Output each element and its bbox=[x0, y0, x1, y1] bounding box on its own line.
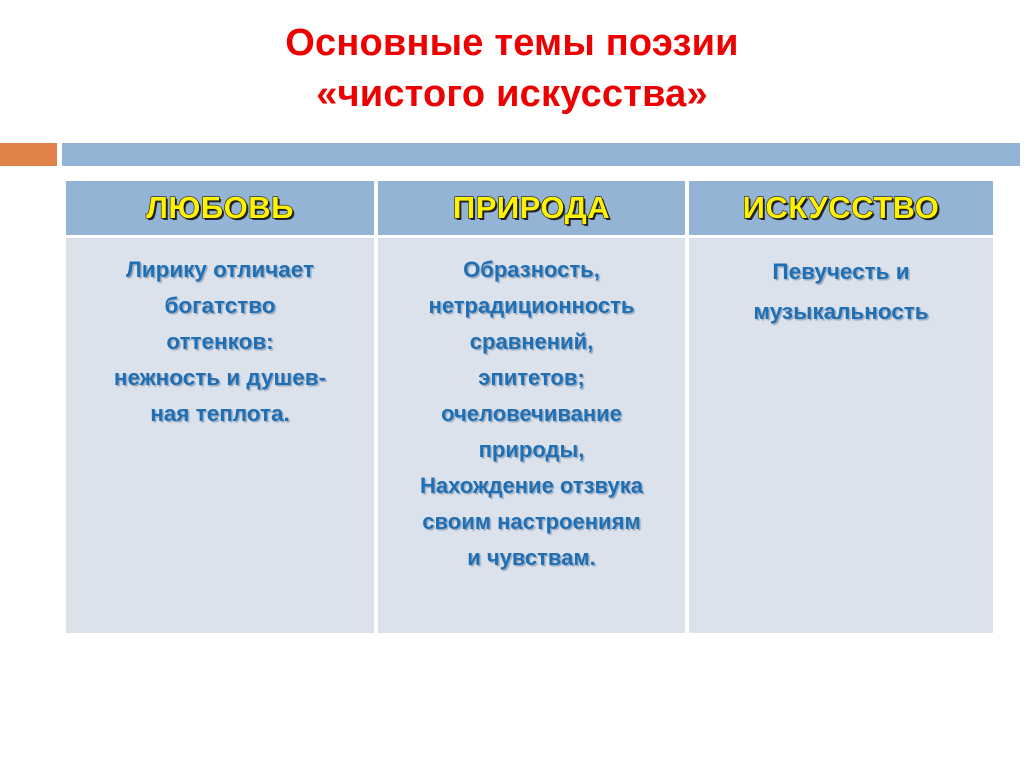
table-header-cell-priroda: ПРИРОДА bbox=[378, 181, 685, 235]
cell-line: богатство bbox=[76, 288, 364, 324]
cell-line: Образность, bbox=[388, 252, 675, 288]
column-header-label-2: ПРИРОДА bbox=[453, 191, 610, 225]
cell-line: своим настроениям bbox=[388, 504, 675, 540]
slide-canvas: Основные темы поэзии «чистого искусства»… bbox=[0, 0, 1024, 767]
column-header-label-1: ЛЮБОВЬ bbox=[146, 191, 294, 225]
cell-line: ная теплота. bbox=[76, 396, 364, 432]
cell-line: сравнений, bbox=[388, 324, 675, 360]
table-cell-lyubov: Лирику отличает богатство оттенков: нежн… bbox=[66, 238, 374, 633]
table-row: Лирику отличает богатство оттенков: нежн… bbox=[66, 238, 993, 633]
cell-text-priroda: Образность, нетрадиционность сравнений, … bbox=[388, 252, 675, 576]
table-cell-priroda: Образность, нетрадиционность сравнений, … bbox=[378, 238, 685, 633]
decorative-blue-bar bbox=[62, 143, 1020, 166]
cell-line: и чувствам. bbox=[388, 540, 675, 576]
cell-line: эпитетов; bbox=[388, 360, 675, 396]
cell-text-lyubov: Лирику отличает богатство оттенков: нежн… bbox=[76, 252, 364, 432]
decorative-orange-block bbox=[0, 143, 57, 166]
cell-line: природы, bbox=[388, 432, 675, 468]
cell-line: нетрадиционность bbox=[388, 288, 675, 324]
table-header-row: ЛЮБОВЬ ПРИРОДА ИСКУССТВО bbox=[66, 181, 993, 235]
table-cell-iskusstvo: Певучесть и музыкальность bbox=[689, 238, 993, 633]
column-header-label-3: ИСКУССТВО bbox=[743, 191, 940, 225]
cell-line: Певучесть и bbox=[699, 252, 983, 292]
table-header-cell-iskusstvo: ИСКУССТВО bbox=[689, 181, 993, 235]
cell-line: оттенков: bbox=[76, 324, 364, 360]
cell-line: очеловечивание bbox=[388, 396, 675, 432]
cell-text-iskusstvo: Певучесть и музыкальность bbox=[699, 252, 983, 332]
page-title-line-1: Основные темы поэзии bbox=[0, 18, 1024, 69]
themes-table: ЛЮБОВЬ ПРИРОДА ИСКУССТВО Лирику отличает bbox=[62, 178, 997, 636]
themes-table-container: ЛЮБОВЬ ПРИРОДА ИСКУССТВО Лирику отличает bbox=[62, 178, 985, 636]
page-title-line-2: «чистого искусства» bbox=[0, 69, 1024, 120]
page-title: Основные темы поэзии «чистого искусства» bbox=[0, 18, 1024, 120]
cell-line: Лирику отличает bbox=[76, 252, 364, 288]
cell-line: нежность и душев- bbox=[76, 360, 364, 396]
table-header-cell-lyubov: ЛЮБОВЬ bbox=[66, 181, 374, 235]
cell-line: музыкальность bbox=[699, 292, 983, 332]
cell-line: Нахождение отзвука bbox=[388, 468, 675, 504]
